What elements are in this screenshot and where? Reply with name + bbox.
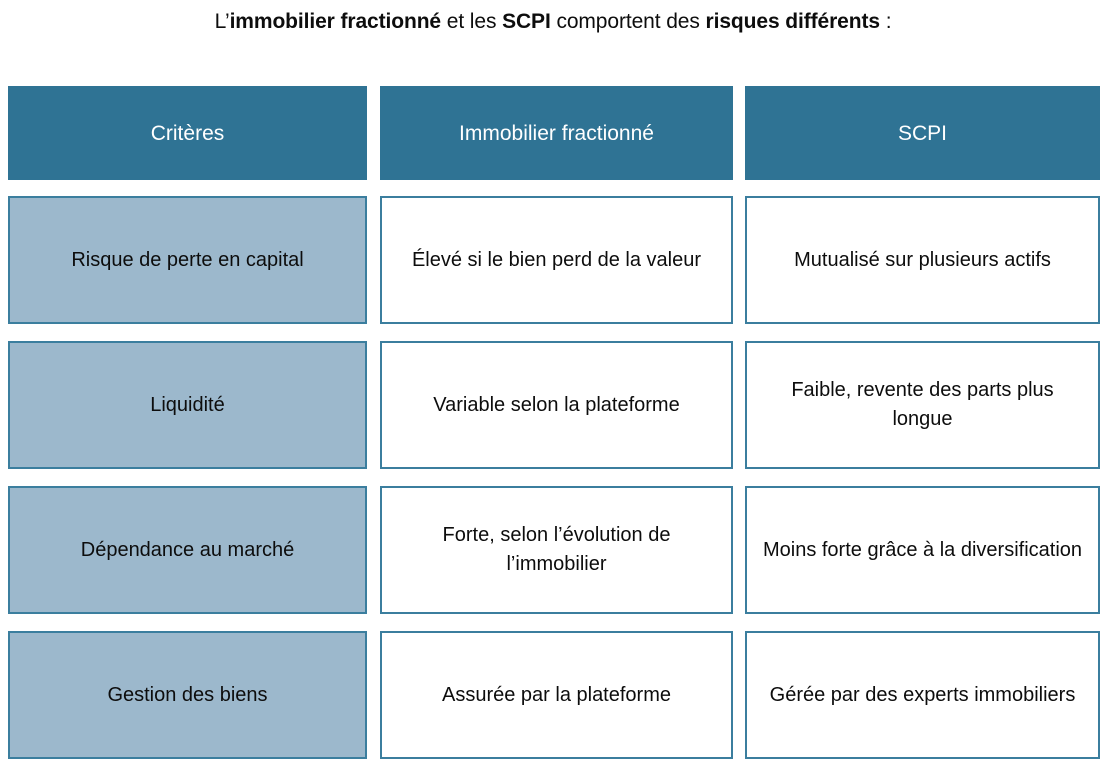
- page-title-segment-1: immobilier fractionné: [230, 10, 441, 33]
- page-title-segment-2: et les: [441, 10, 502, 33]
- criteria-cell: Dépendance au marché: [8, 486, 367, 614]
- page-title-segment-5: risques différents: [706, 10, 880, 33]
- criteria-cell: Liquidité: [8, 341, 367, 469]
- scpi-value: Moins forte grâce à la diversification: [763, 536, 1082, 565]
- fractionne-value: Forte, selon l’évolution de l’immobilier: [396, 521, 717, 579]
- criteria-label: Dépendance au marché: [81, 536, 294, 565]
- fractionne-value: Assurée par la plateforme: [442, 681, 671, 710]
- scpi-cell: Moins forte grâce à la diversification: [745, 486, 1100, 614]
- page-title-segment-0: L’: [215, 10, 230, 33]
- criteria-cell: Risque de perte en capital: [8, 196, 367, 324]
- scpi-value: Gérée par des experts immobiliers: [770, 681, 1076, 710]
- criteria-label: Gestion des biens: [107, 681, 267, 710]
- column-header-criteres-label: Critères: [151, 119, 225, 148]
- fractionne-cell: Élevé si le bien perd de la valeur: [380, 196, 733, 324]
- page-title-segment-6: :: [880, 10, 891, 33]
- fractionne-cell: Assurée par la plateforme: [380, 631, 733, 759]
- scpi-cell: Faible, revente des parts plus longue: [745, 341, 1100, 469]
- table-row: Gestion des biens Assurée par la platefo…: [8, 631, 1100, 759]
- comparison-table-page: L’immobilier fractionné et les SCPI comp…: [0, 0, 1106, 776]
- scpi-cell: Mutualisé sur plusieurs actifs: [745, 196, 1100, 324]
- comparison-table: Critères Immobilier fractionné SCPI Risq…: [8, 86, 1100, 759]
- table-row: Liquidité Variable selon la plateforme F…: [8, 341, 1100, 469]
- page-title-segment-4: comportent des: [551, 10, 706, 33]
- column-header-criteres: Critères: [8, 86, 367, 180]
- column-header-immobilier-fractionne: Immobilier fractionné: [380, 86, 733, 180]
- fractionne-value: Variable selon la plateforme: [433, 391, 679, 420]
- criteria-cell: Gestion des biens: [8, 631, 367, 759]
- scpi-value: Faible, revente des parts plus longue: [761, 376, 1084, 434]
- criteria-label: Liquidité: [150, 391, 225, 420]
- fractionne-cell: Forte, selon l’évolution de l’immobilier: [380, 486, 733, 614]
- table-header-row: Critères Immobilier fractionné SCPI: [8, 86, 1100, 180]
- scpi-value: Mutualisé sur plusieurs actifs: [794, 246, 1051, 275]
- table-row: Risque de perte en capital Élevé si le b…: [8, 196, 1100, 324]
- scpi-cell: Gérée par des experts immobiliers: [745, 631, 1100, 759]
- column-header-immobilier-fractionne-label: Immobilier fractionné: [459, 119, 654, 148]
- column-header-scpi-label: SCPI: [898, 119, 947, 148]
- column-header-scpi: SCPI: [745, 86, 1100, 180]
- table-row: Dépendance au marché Forte, selon l’évol…: [8, 486, 1100, 614]
- fractionne-value: Élevé si le bien perd de la valeur: [412, 246, 701, 275]
- fractionne-cell: Variable selon la plateforme: [380, 341, 733, 469]
- page-title-segment-3: SCPI: [502, 10, 551, 33]
- page-title: L’immobilier fractionné et les SCPI comp…: [0, 8, 1106, 36]
- criteria-label: Risque de perte en capital: [71, 246, 303, 275]
